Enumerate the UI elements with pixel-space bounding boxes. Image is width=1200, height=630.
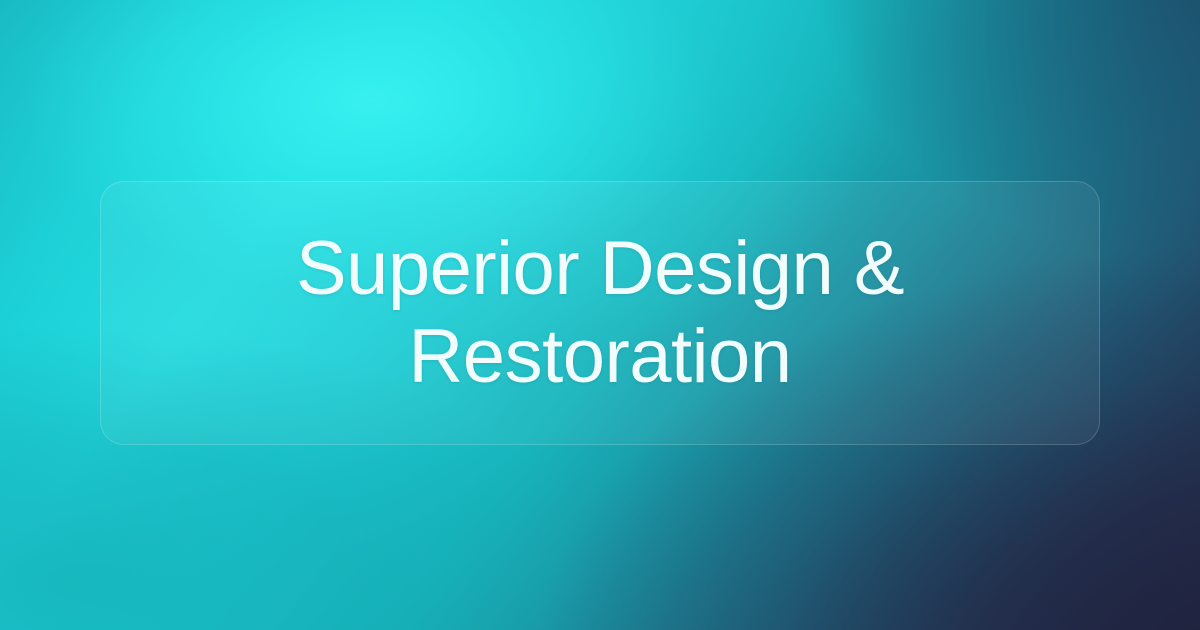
page-title: Superior Design & Restoration bbox=[240, 225, 960, 401]
og-banner: Superior Design & Restoration bbox=[0, 0, 1200, 630]
glass-card: Superior Design & Restoration bbox=[100, 181, 1100, 445]
